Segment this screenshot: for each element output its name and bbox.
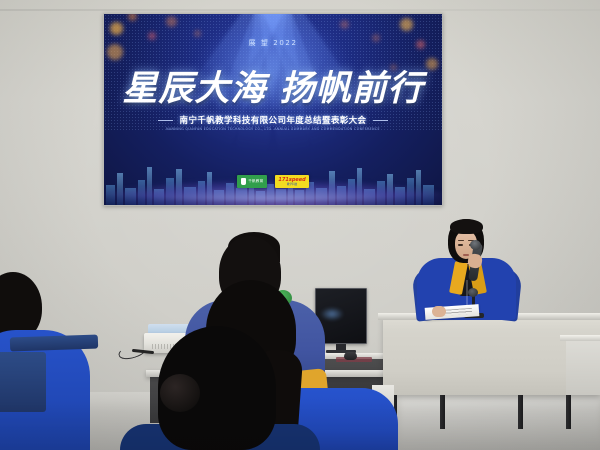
right-desk-body (566, 341, 600, 395)
sponsor-logo-green: 千帆教育 (237, 175, 267, 188)
gold-logo-secondary-text: 教学科技 (287, 183, 297, 186)
audience-chair (0, 352, 46, 412)
podium-leg (518, 395, 523, 429)
slide-logo-row: 千帆教育 171speed 教学科技 (104, 175, 442, 188)
speaker-eye-left (458, 244, 463, 246)
monitor-screen-glow (320, 307, 344, 321)
podium-leg (440, 395, 445, 429)
speaker-hair-front (450, 219, 483, 234)
desk-microphone-head-icon (468, 288, 478, 297)
slide-subtitle-row: 南宁千帆教学科技有限公司年度总结暨表彰大会 (104, 114, 442, 126)
speaker-mouth (463, 254, 469, 256)
green-logo-mark-icon (241, 178, 246, 185)
subtitle-dash-right (373, 120, 388, 121)
green-logo-text: 千帆教育 (248, 179, 263, 184)
speaker-hand-holding-papers (432, 306, 446, 317)
bokeh-light (110, 22, 123, 35)
subtitle-dash-left (158, 120, 173, 121)
slide-eyebrow-text: 展 望 2022 (104, 38, 442, 48)
slide-subtitle: 南宁千帆教学科技有限公司年度总结暨表彰大会 (180, 114, 367, 126)
bokeh-light (166, 16, 177, 27)
bokeh-light (340, 20, 349, 29)
podium-leg (566, 395, 571, 429)
computer-mouse (344, 352, 357, 360)
slide-headline: 星辰大海 扬帆前行 (104, 60, 442, 111)
attendee-front-hair-bun (160, 374, 200, 412)
bokeh-light (194, 30, 201, 37)
sponsor-logo-gold: 171speed 教学科技 (275, 175, 308, 188)
meeting-room-photo: 展 望 2022 星辰大海 扬帆前行 南宁千帆教学科技有限公司年度总结暨表彰大会… (0, 0, 600, 450)
slide-subtitle-english: NANNING QIANFAN EDUCATION TECHNOLOGY CO.… (104, 127, 442, 131)
right-desk-top (560, 335, 600, 341)
projection-screen: 展 望 2022 星辰大海 扬帆前行 南宁千帆教学科技有限公司年度总结暨表彰大会… (104, 14, 442, 205)
bokeh-light (400, 18, 413, 31)
